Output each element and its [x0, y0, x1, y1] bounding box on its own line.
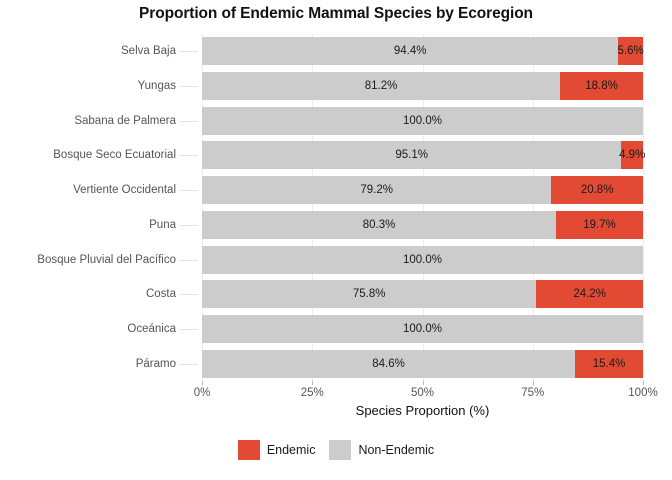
legend-label: Endemic: [267, 443, 316, 457]
x-axis-tick-mark: [643, 381, 644, 385]
bar-row[interactable]: 84.6%15.4%: [202, 350, 643, 378]
x-axis-title: Species Proportion (%): [202, 403, 643, 418]
bar-label-non-endemic: 81.2%: [202, 72, 560, 100]
bar-label-non-endemic: 100.0%: [202, 315, 643, 343]
bar-label-non-endemic: 100.0%: [202, 246, 643, 274]
bar-label-non-endemic: 75.8%: [202, 280, 536, 308]
bar-label-endemic: 15.4%: [575, 350, 643, 378]
x-axis-tick-label: 25%: [301, 387, 324, 399]
legend-swatch: [329, 440, 351, 460]
bar-label-non-endemic: 80.3%: [202, 211, 556, 239]
bar-label-endemic: 20.8%: [551, 176, 643, 204]
y-axis-tick-label: Bosque Pluvial del Pacífico: [0, 254, 176, 266]
bar-label-endemic: 24.2%: [536, 280, 643, 308]
y-axis-tick-label: Bosque Seco Ecuatorial: [0, 149, 176, 161]
x-axis-tick-label: 50%: [411, 387, 434, 399]
y-axis-tick-mark: [180, 155, 198, 156]
x-axis-tick-label: 75%: [521, 387, 544, 399]
bar-row[interactable]: 94.4%5.6%: [202, 37, 643, 65]
chart-title: Proportion of Endemic Mammal Species by …: [0, 5, 672, 23]
y-axis-tick-mark: [180, 329, 198, 330]
x-axis-tick-label: 100%: [628, 387, 657, 399]
plot-area: 94.4%5.6%81.2%18.8%100.0%95.1%4.9%79.2%2…: [202, 34, 643, 381]
bar-label-non-endemic: 79.2%: [202, 176, 551, 204]
x-axis-tick-mark: [533, 381, 534, 385]
bar-row[interactable]: 100.0%: [202, 315, 643, 343]
chart-legend: EndemicNon-Endemic: [0, 440, 672, 460]
y-axis-tick-label: Selva Baja: [0, 45, 176, 57]
bar-row[interactable]: 100.0%: [202, 246, 643, 274]
x-axis-tick-mark: [312, 381, 313, 385]
x-axis-tick-mark: [423, 381, 424, 385]
y-axis-tick-mark: [180, 121, 198, 122]
bar-label-endemic: 5.6%: [618, 37, 643, 65]
y-axis-tick-label: Costa: [0, 288, 176, 300]
y-axis-tick-label: Sabana de Palmera: [0, 115, 176, 127]
x-axis-tick-label: 0%: [194, 387, 211, 399]
bar-label-non-endemic: 94.4%: [202, 37, 618, 65]
bar-row[interactable]: 100.0%: [202, 107, 643, 135]
y-axis-tick-mark: [180, 364, 198, 365]
bar-row[interactable]: 79.2%20.8%: [202, 176, 643, 204]
legend-item[interactable]: Endemic: [238, 440, 316, 460]
bar-label-non-endemic: 100.0%: [202, 107, 643, 135]
y-axis-tick-label: Vertiente Occidental: [0, 184, 176, 196]
y-axis-tick-mark: [180, 294, 198, 295]
bar-row[interactable]: 81.2%18.8%: [202, 72, 643, 100]
bar-label-endemic: 19.7%: [556, 211, 643, 239]
bar-label-endemic: 18.8%: [560, 72, 643, 100]
bar-row[interactable]: 95.1%4.9%: [202, 141, 643, 169]
bar-row[interactable]: 80.3%19.7%: [202, 211, 643, 239]
bar-label-non-endemic: 84.6%: [202, 350, 575, 378]
legend-item[interactable]: Non-Endemic: [329, 440, 434, 460]
y-axis-tick-label: Puna: [0, 219, 176, 231]
x-axis-tick-mark: [202, 381, 203, 385]
legend-label: Non-Endemic: [358, 443, 434, 457]
y-axis-tick-mark: [180, 260, 198, 261]
gridline: [643, 34, 644, 381]
chart-container: Proportion of Endemic Mammal Species by …: [0, 0, 672, 480]
y-axis-tick-mark: [180, 190, 198, 191]
y-axis-tick-mark: [180, 225, 198, 226]
bar-row[interactable]: 75.8%24.2%: [202, 280, 643, 308]
bar-label-endemic: 4.9%: [621, 141, 643, 169]
legend-swatch: [238, 440, 260, 460]
y-axis-tick-label: Yungas: [0, 80, 176, 92]
y-axis-tick-label: Páramo: [0, 358, 176, 370]
bar-label-non-endemic: 95.1%: [202, 141, 621, 169]
y-axis-tick-mark: [180, 51, 198, 52]
y-axis-tick-mark: [180, 86, 198, 87]
y-axis-tick-label: Oceánica: [0, 323, 176, 335]
